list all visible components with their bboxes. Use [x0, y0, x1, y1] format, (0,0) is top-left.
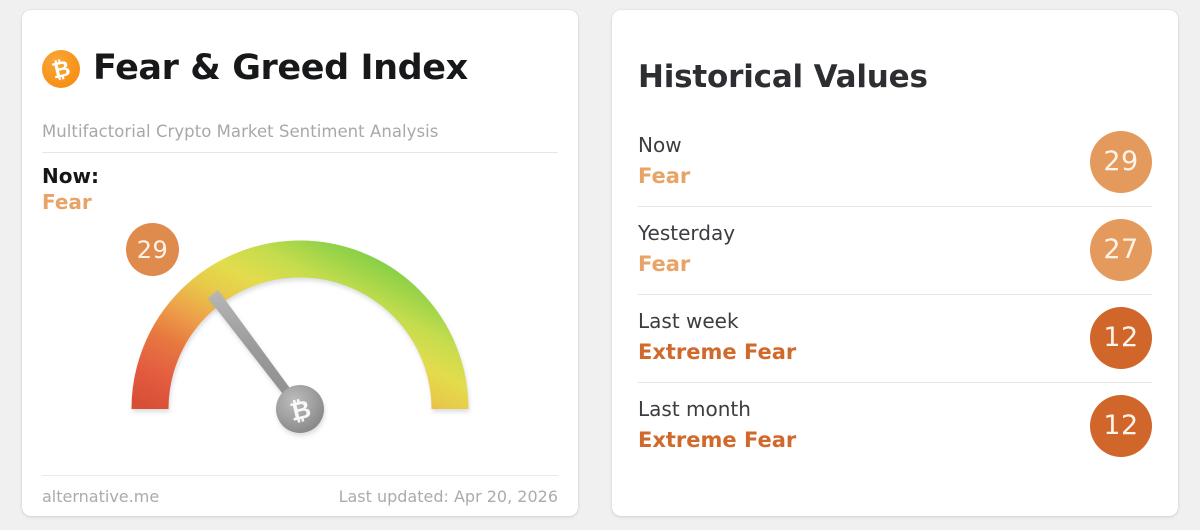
last-updated-label: Last updated: Apr 20, 2026 [339, 487, 558, 506]
gauge-card-header: ₿ Fear & Greed Index [42, 28, 558, 110]
row-value-badge: 12 [1090, 307, 1152, 369]
table-row[interactable]: Yesterday Fear 27 [638, 207, 1152, 295]
row-period: Last month [638, 397, 796, 423]
dashboard: ₿ Fear & Greed Index Multifactorial Cryp… [0, 0, 1200, 530]
svg-text:₿: ₿ [50, 56, 73, 84]
gauge-value-badge: 29 [126, 223, 179, 276]
source-label[interactable]: alternative.me [42, 487, 159, 506]
row-text: Last week Extreme Fear [638, 309, 796, 365]
row-period: Yesterday [638, 221, 735, 247]
gauge-chart: ₿ 29 [42, 209, 558, 475]
row-period: Now [638, 133, 690, 159]
page-subtitle: Multifactorial Crypto Market Sentiment A… [42, 122, 558, 153]
page-title: Fear & Greed Index [93, 51, 468, 86]
table-row[interactable]: Now Fear 29 [638, 119, 1152, 207]
row-value-badge: 27 [1090, 219, 1152, 281]
historical-values-card: Historical Values Now Fear 29 Yesterday … [612, 10, 1178, 516]
historical-values-title: Historical Values [638, 62, 1152, 93]
current-value-block: Now: Fear [42, 165, 558, 215]
row-classification: Extreme Fear [638, 427, 796, 454]
gauge-needle-hub: ₿ [276, 385, 324, 433]
gauge-card-footer: alternative.me Last updated: Apr 20, 202… [42, 475, 558, 506]
row-text: Now Fear [638, 133, 690, 189]
row-period: Last week [638, 309, 796, 335]
table-row[interactable]: Last week Extreme Fear 12 [638, 295, 1152, 383]
row-classification: Extreme Fear [638, 339, 796, 366]
table-row[interactable]: Last month Extreme Fear 12 [638, 383, 1152, 470]
now-label: Now: [42, 165, 558, 189]
row-value-badge: 12 [1090, 395, 1152, 457]
row-classification: Fear [638, 251, 735, 278]
historical-values-list: Now Fear 29 Yesterday Fear 27 Last week … [638, 119, 1152, 470]
row-value-badge: 29 [1090, 131, 1152, 193]
row-text: Yesterday Fear [638, 221, 735, 277]
row-classification: Fear [638, 163, 690, 190]
fear-greed-gauge-card: ₿ Fear & Greed Index Multifactorial Cryp… [22, 10, 578, 516]
row-text: Last month Extreme Fear [638, 397, 796, 453]
bitcoin-logo-icon: ₿ [42, 50, 80, 88]
